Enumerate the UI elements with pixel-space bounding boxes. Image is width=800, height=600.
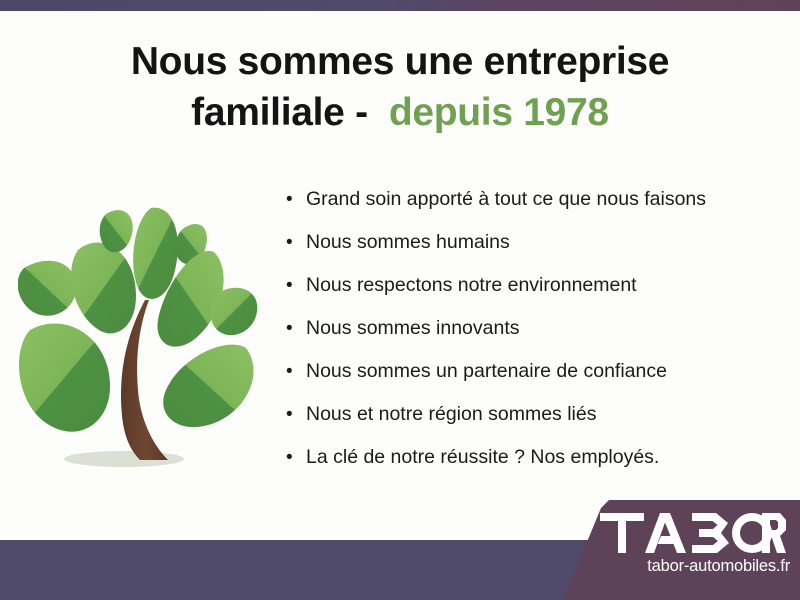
- list-item-label: Nous et notre région sommes liés: [306, 405, 596, 425]
- list-item: • Nous sommes humains: [286, 233, 766, 276]
- list-item: • Nous respectons notre environnement: [286, 276, 766, 319]
- tree-illustration-svg: [18, 178, 274, 490]
- list-item: • Nous sommes un partenaire de confiance: [286, 362, 766, 405]
- list-item-label: Nous sommes humains: [306, 233, 510, 253]
- logo-website-url: tabor-automobiles.fr: [600, 558, 790, 575]
- bullet-icon: •: [286, 190, 306, 209]
- values-bullet-list: • Grand soin apporté à tout ce que nous …: [286, 190, 766, 491]
- bullet-icon: •: [286, 448, 306, 467]
- tree-illustration: [18, 178, 274, 490]
- tree-leaf-upper-left: [71, 243, 136, 334]
- slide-canvas: Nous sommes une entreprise familiale - d…: [0, 0, 800, 600]
- title-line-2: familiale - depuis 1978: [0, 87, 800, 138]
- tree-leaf-left-mid: [18, 261, 76, 316]
- tree-leaf-right-lower: [163, 345, 253, 427]
- tree-leaf-top-left: [100, 210, 133, 252]
- title-line-2-black: familiale -: [191, 91, 389, 134]
- list-item: • Nous et notre région sommes liés: [286, 405, 766, 448]
- list-item-label: Grand soin apporté à tout ce que nous fa…: [306, 190, 706, 210]
- tree-leaf-left-lower: [19, 323, 110, 431]
- list-item-label: Nous sommes innovants: [306, 319, 520, 339]
- bullet-icon: •: [286, 276, 306, 295]
- list-item: • Nous sommes innovants: [286, 319, 766, 362]
- tabor-logo: [600, 513, 790, 553]
- page-title: Nous sommes une entreprise familiale - d…: [0, 36, 800, 139]
- bullet-icon: •: [286, 405, 306, 424]
- bullet-icon: •: [286, 233, 306, 252]
- top-accent-band: [0, 0, 800, 11]
- bullet-icon: •: [286, 362, 306, 381]
- list-item-label: Nous sommes un partenaire de confiance: [306, 362, 667, 382]
- bullet-icon: •: [286, 319, 306, 338]
- tabor-logo-svg: [600, 513, 786, 553]
- title-line-2-accent: depuis 1978: [389, 91, 609, 134]
- list-item: • Grand soin apporté à tout ce que nous …: [286, 190, 766, 233]
- title-line-1: Nous sommes une entreprise: [0, 36, 800, 87]
- list-item: • La clé de notre réussite ? Nos employé…: [286, 448, 766, 491]
- list-item-label: La clé de notre réussite ? Nos employés.: [306, 448, 659, 468]
- list-item-label: Nous respectons notre environnement: [306, 276, 637, 296]
